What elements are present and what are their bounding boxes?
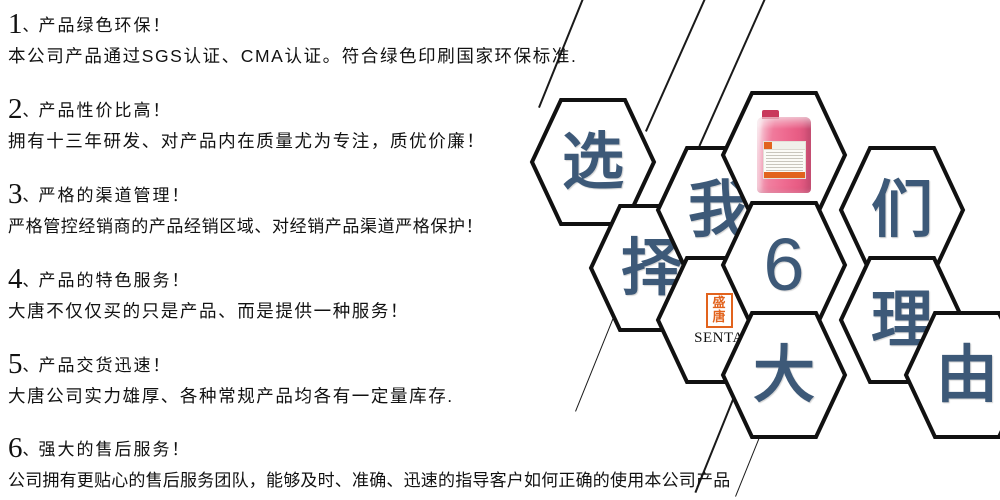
reason-title: 1、产品绿色环保！ bbox=[8, 10, 577, 39]
reason-item: 3、严格的渠道管理！ 严格管控经销商的产品经销区域、对经销产品渠道严格保护！ bbox=[8, 180, 483, 235]
hexagon-da[interactable]: 大 bbox=[720, 310, 848, 440]
reason-item: 6、强大的售后服务！ 公司拥有更贴心的售后服务团队，能够及时、准确、迅速的指导客… bbox=[8, 434, 730, 489]
reason-separator: 、 bbox=[23, 273, 39, 290]
reason-heading: 产品绿色环保！ bbox=[39, 16, 172, 35]
reason-separator: 、 bbox=[23, 18, 39, 35]
reason-heading: 产品性价比高！ bbox=[39, 101, 172, 120]
reason-title: 6、强大的售后服务！ bbox=[8, 434, 730, 463]
reason-heading: 严格的渠道管理！ bbox=[39, 186, 191, 205]
hexagon-label: 大 bbox=[720, 310, 848, 440]
reason-title: 4、产品的特色服务！ bbox=[8, 265, 409, 294]
reason-heading: 产品的特色服务！ bbox=[39, 271, 191, 290]
reason-number: 5 bbox=[8, 348, 23, 380]
reason-number: 3 bbox=[8, 178, 23, 210]
promo-banner: 1、产品绿色环保！ 本公司产品通过SGS认证、CMA认证。符合绿色印刷国家环保标… bbox=[0, 0, 1000, 500]
reason-body: 本公司产品通过SGS认证、CMA认证。符合绿色印刷国家环保标准. bbox=[8, 48, 577, 66]
hexagon-you[interactable]: 由 bbox=[903, 310, 1000, 440]
reason-body: 严格管控经销商的产品经销区域、对经销产品渠道严格保护！ bbox=[8, 218, 483, 235]
reason-heading: 强大的售后服务！ bbox=[39, 440, 191, 459]
reason-body: 拥有十三年研发、对产品内在质量尤为专注，质优价廉！ bbox=[8, 133, 486, 151]
reason-body: 公司拥有更贴心的售后服务团队，能够及时、准确、迅速的指导客户如何正确的使用本公司… bbox=[8, 472, 730, 489]
reason-number: 6 bbox=[8, 432, 23, 464]
reason-title: 5、产品交货迅速！ bbox=[8, 350, 454, 379]
hexagon-cluster: 选 择 我 盛 唐 SENTA bbox=[0, 0, 1000, 500]
reason-item: 2、产品性价比高！ 拥有十三年研发、对产品内在质量尤为专注，质优价廉！ bbox=[8, 95, 486, 151]
jerrycan-icon bbox=[757, 117, 811, 193]
reason-separator: 、 bbox=[23, 358, 39, 375]
jerrycan-label bbox=[763, 141, 806, 179]
reason-number: 1 bbox=[8, 8, 23, 40]
reason-item: 1、产品绿色环保！ 本公司产品通过SGS认证、CMA认证。符合绿色印刷国家环保标… bbox=[8, 10, 577, 66]
reason-separator: 、 bbox=[23, 442, 39, 459]
label-text-lines bbox=[764, 150, 805, 174]
reason-body: 大唐不仅仅买的只是产品、而是提供一种服务！ bbox=[8, 303, 409, 321]
reason-body: 大唐公司实力雄厚、各种常规产品均各有一定量库存. bbox=[8, 388, 454, 406]
reason-number: 2 bbox=[8, 93, 23, 125]
reason-number: 4 bbox=[8, 263, 23, 295]
reason-separator: 、 bbox=[23, 188, 39, 205]
reason-title: 2、产品性价比高！ bbox=[8, 95, 486, 124]
reason-item: 5、产品交货迅速！ 大唐公司实力雄厚、各种常规产品均各有一定量库存. bbox=[8, 350, 454, 406]
label-header bbox=[764, 142, 805, 150]
reason-heading: 产品交货迅速！ bbox=[39, 356, 172, 375]
reason-separator: 、 bbox=[23, 103, 39, 120]
label-footer-bar bbox=[764, 172, 805, 178]
reason-title: 3、严格的渠道管理！ bbox=[8, 180, 483, 209]
label-orange-mark bbox=[764, 142, 772, 149]
jerrycan-shoulder bbox=[757, 117, 811, 129]
hexagon-label: 由 bbox=[903, 310, 1000, 440]
reason-item: 4、产品的特色服务！ 大唐不仅仅买的只是产品、而是提供一种服务！ bbox=[8, 265, 409, 321]
